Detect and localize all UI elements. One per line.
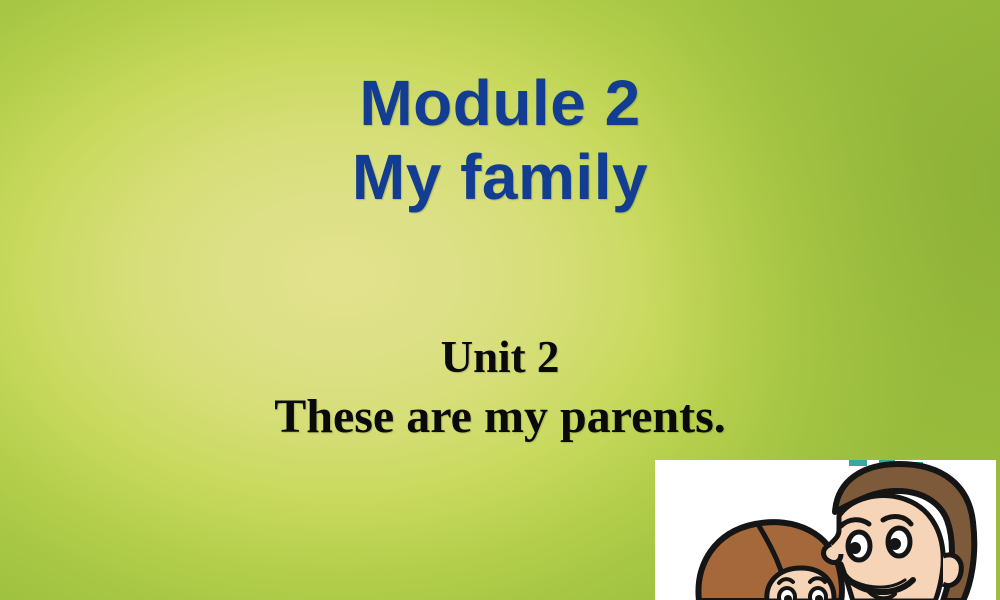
slide-subtitle: Unit 2 These are my parents. xyxy=(0,328,1000,448)
cartoon-parents-illustration xyxy=(655,460,996,600)
title-line-module: Module 2 xyxy=(0,66,1000,140)
subtitle-line-sentence: These are my parents. xyxy=(0,386,1000,448)
title-line-topic: My family xyxy=(0,140,1000,214)
presentation-slide: Module 2 My family Unit 2 These are my p… xyxy=(0,0,1000,600)
man-ear-icon xyxy=(943,555,961,586)
subtitle-line-unit: Unit 2 xyxy=(0,328,1000,386)
cartoon-parents-photo xyxy=(655,460,996,600)
slide-title: Module 2 My family xyxy=(0,66,1000,214)
